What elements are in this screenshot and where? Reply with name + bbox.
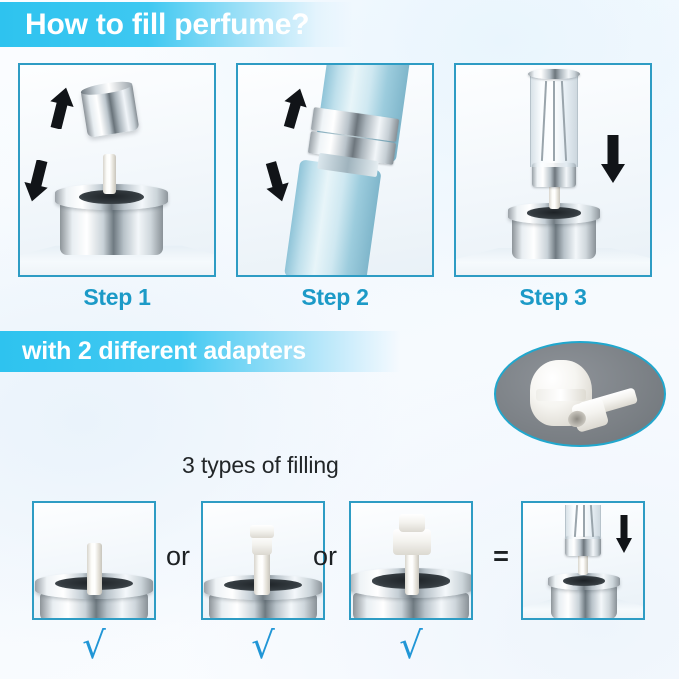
large-stepped-adapter-lower	[393, 529, 431, 555]
nozzle-stem	[87, 543, 102, 595]
title-banner: How to fill perfume?	[0, 2, 352, 47]
check-icon-2: √	[201, 627, 325, 664]
check-icon-1: √	[32, 627, 156, 664]
filling-option-1-photo	[32, 501, 156, 620]
large-stepped-adapter-upper	[399, 514, 425, 532]
connector-or-1: or	[156, 541, 200, 572]
down-arrow-icon	[264, 161, 289, 203]
step-3-photo	[454, 63, 652, 277]
types-caption: 3 types of filling	[182, 452, 339, 479]
up-arrow-icon	[282, 87, 307, 129]
subtitle-banner: with 2 different adapters	[0, 331, 400, 372]
nozzle-stem	[254, 551, 270, 595]
refill-tube-cap	[528, 69, 580, 79]
refill-chrome-head	[565, 536, 601, 556]
step-1-label: Step 1	[18, 284, 216, 311]
step-2-photo	[236, 63, 434, 277]
step-1-photo	[18, 63, 216, 277]
connector-equals: =	[479, 541, 523, 572]
nozzle-stem	[578, 553, 588, 575]
adapters-photo	[494, 341, 666, 447]
page-title: How to fill perfume?	[25, 8, 309, 42]
filling-option-3-photo	[349, 501, 473, 620]
step-3-label: Step 3	[454, 284, 652, 311]
connector-or-2: or	[303, 541, 347, 572]
small-dome-adapter	[252, 535, 272, 555]
dome-adapter-flange	[536, 389, 586, 401]
step-2-label: Step 2	[236, 284, 434, 311]
infographic-page: How to fill perfume?	[0, 0, 679, 679]
check-icon-3: √	[349, 627, 473, 664]
down-arrow-icon	[24, 160, 50, 202]
clear-refill-tube	[565, 505, 601, 539]
atomizer-lower-tube	[284, 159, 382, 277]
down-arrow-icon	[600, 135, 626, 183]
nozzle-stem	[103, 154, 116, 194]
up-arrow-icon	[48, 87, 74, 129]
page-subtitle: with 2 different adapters	[22, 337, 306, 366]
clear-refill-tube	[530, 75, 578, 167]
filling-result-photo	[521, 501, 645, 620]
chrome-cap	[81, 82, 140, 138]
down-arrow-icon	[615, 515, 633, 553]
small-dome-adapter-top	[250, 525, 274, 538]
